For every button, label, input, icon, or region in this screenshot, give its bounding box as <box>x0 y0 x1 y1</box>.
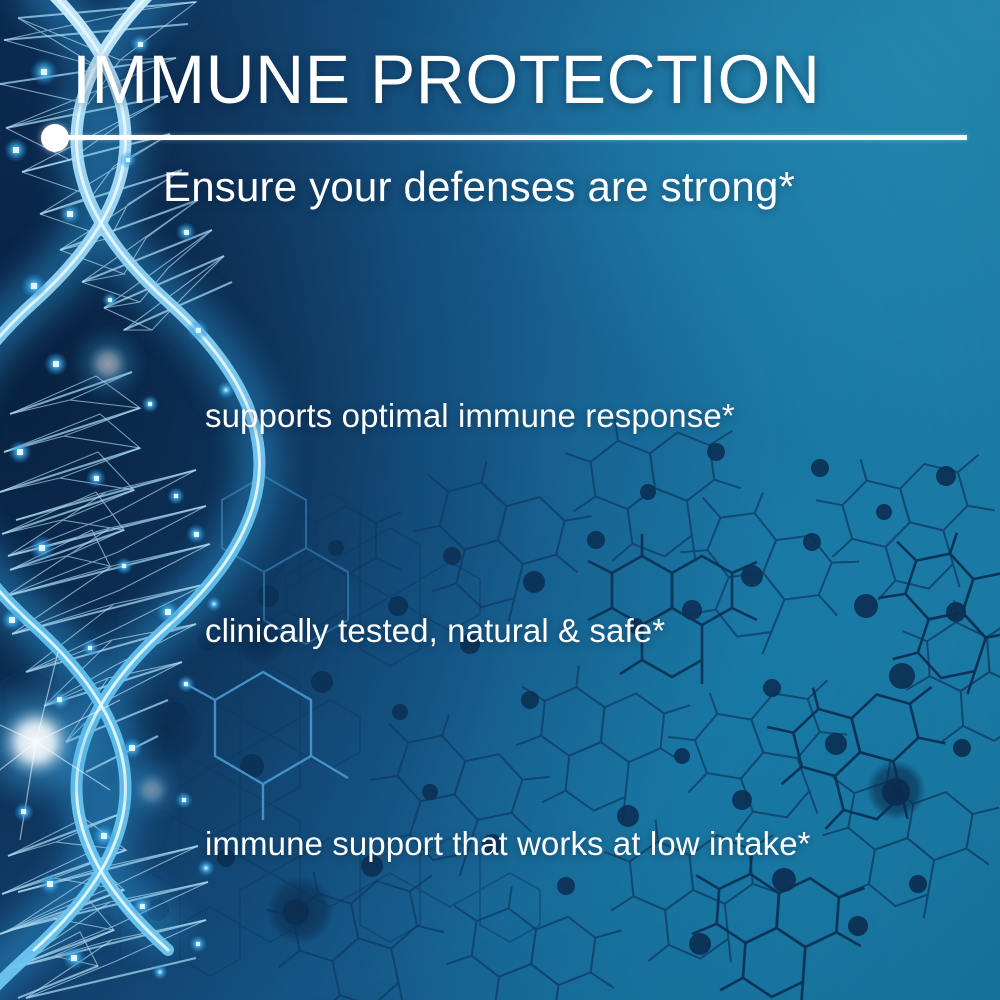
page-subtitle: Ensure your defenses are strong* <box>163 163 795 211</box>
divider-dot-icon <box>41 124 69 152</box>
benefit-item-3: immune support that works at low intake* <box>205 824 811 864</box>
page-title: IMMUNE PROTECTION <box>72 44 820 116</box>
benefit-item-1: supports optimal immune response* <box>205 396 735 436</box>
title-divider <box>66 135 967 140</box>
immune-protection-banner: IMMUNE PROTECTION Ensure your defenses a… <box>0 0 1000 1000</box>
benefit-item-2: clinically tested, natural & safe* <box>205 611 665 651</box>
